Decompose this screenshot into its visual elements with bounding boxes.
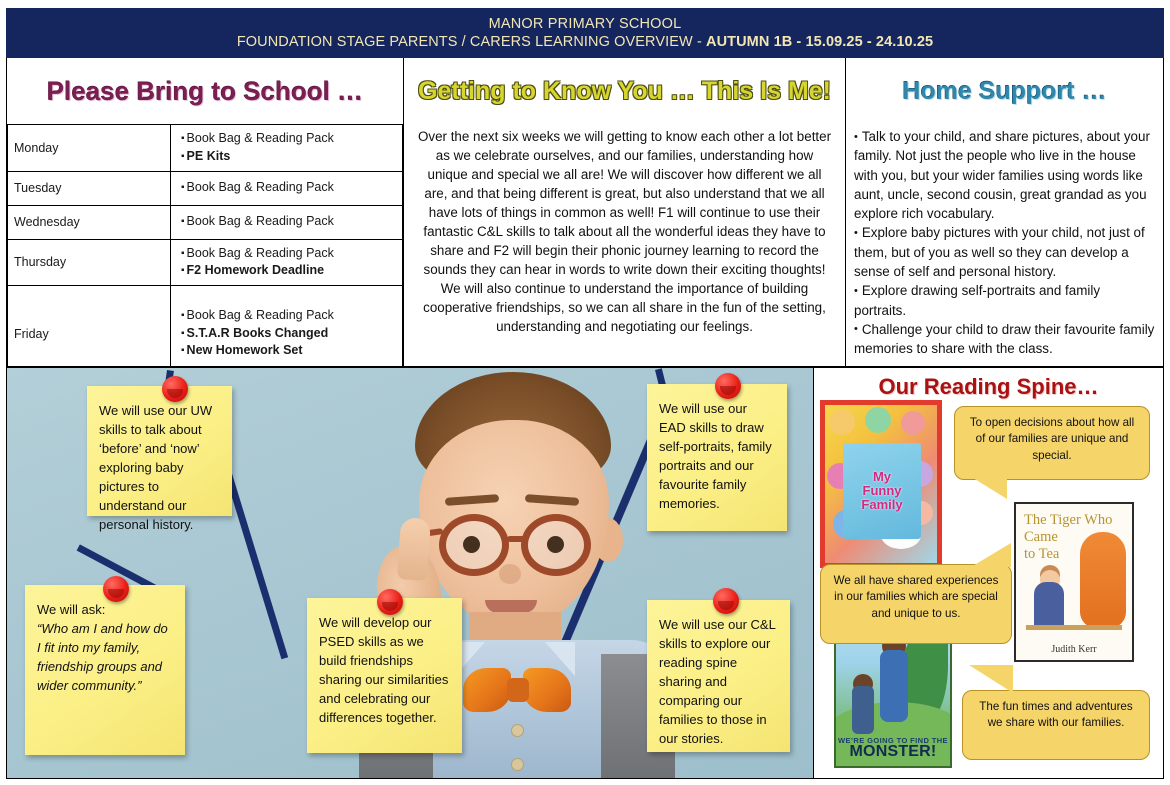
reading-spine-title: Our Reading Spine…: [814, 374, 1163, 400]
pointing-finger-shape: [397, 517, 431, 581]
connector-stroke-2: [223, 466, 288, 659]
schedule-body: MondayBook Bag & Reading PackPE KitsTues…: [8, 125, 403, 382]
weekly-schedule-table: MondayBook Bag & Reading PackPE KitsTues…: [7, 124, 403, 382]
sticky-note-ead-text: We will use our EAD skills to draw self-…: [659, 401, 772, 511]
schedule-items-cell: Book Bag & Reading PackPE Kits: [171, 125, 403, 172]
pushpin-icon-cl: [713, 588, 739, 614]
pushpin-icon-uw: [162, 376, 188, 402]
book2-tiger-illustration: [1080, 532, 1126, 628]
bring-to-school-title: Please Bring to School …: [47, 76, 363, 107]
pushpin-icon-ead: [715, 373, 741, 399]
book-cover-my-funny-family: MyFunnyFamily: [820, 400, 942, 568]
home-support-list: Talk to your child, and share pictures, …: [846, 124, 1163, 359]
sticky-note-cl-text: We will use our C&L skills to explore ou…: [659, 617, 775, 746]
schedule-item: New Homework Set: [181, 342, 396, 360]
learning-overview-page: MANOR PRIMARY SCHOOL FOUNDATION STAGE PA…: [0, 0, 1170, 785]
book1-title-line3: Family: [861, 497, 902, 512]
home-support-item: Explore drawing self-portraits and famil…: [854, 281, 1155, 320]
pushpin-icon-ask: [103, 576, 129, 602]
schedule-day-cell: Wednesday: [8, 205, 171, 239]
book3-title-big: MONSTER!: [836, 744, 950, 760]
home-support-column: Home Support … Talk to your child, and s…: [846, 58, 1163, 366]
getting-to-know-paragraph: Over the next six weeks we will getting …: [404, 124, 845, 336]
nose-shape: [499, 564, 521, 584]
book1-title-line1: My: [873, 469, 891, 484]
schedule-item: F2 Homework Deadline: [181, 262, 396, 280]
home-support-item: Challenge your child to draw their favou…: [854, 320, 1155, 359]
subtitle-prefix: FOUNDATION STAGE PARENTS / CARERS LEARNI…: [237, 34, 706, 50]
shirt-button-1: [511, 724, 524, 737]
table-row: ThursdayBook Bag & Reading PackF2 Homewo…: [8, 239, 403, 286]
schedule-day-cell: Monday: [8, 125, 171, 172]
book2-author: Judith Kerr: [1016, 644, 1132, 655]
home-support-title-wrap: Home Support …: [846, 58, 1163, 124]
book3-title: WE’RE GOING TO FIND THE MONSTER!: [836, 737, 950, 761]
book-cover-tiger-who-came-to-tea: The Tiger Who Came to Tea Judith Kerr: [1014, 502, 1134, 662]
schedule-items-cell: Book Bag & Reading Pack: [171, 171, 403, 205]
speech-bubble-3: The fun times and adventures we share wi…: [962, 690, 1150, 760]
book2-title-line2: Came: [1024, 529, 1058, 545]
book1-title-block: MyFunnyFamily: [843, 443, 921, 539]
overview-subtitle: FOUNDATION STAGE PARENTS / CARERS LEARNI…: [237, 33, 933, 51]
table-row: WednesdayBook Bag & Reading Pack: [8, 205, 403, 239]
school-name: MANOR PRIMARY SCHOOL: [489, 15, 682, 33]
subtitle-term: AUTUMN 1B - 15.09.25 - 24.10.25: [706, 34, 933, 50]
schedule-item: Book Bag & Reading Pack: [181, 307, 396, 325]
schedule-items-cell: Book Bag & Reading PackF2 Homework Deadl…: [171, 239, 403, 286]
sticky-note-uw-text: We will use our UW skills to talk about …: [99, 403, 212, 532]
speech-bubble-1: To open decisions about how all of our f…: [954, 406, 1150, 480]
book2-table-shape: [1026, 625, 1122, 630]
sticky-note-uw: We will use our UW skills to talk about …: [87, 386, 232, 516]
speech-bubble-2-text: We all have shared experiences in our fa…: [834, 574, 999, 620]
schedule-item: Book Bag & Reading Pack: [181, 130, 396, 148]
sticky-note-ead: We will use our EAD skills to draw self-…: [647, 384, 787, 531]
lower-section: We will use our UW skills to talk about …: [6, 367, 1164, 779]
schedule-items-cell: Book Bag & Reading Pack: [171, 205, 403, 239]
book1-character-2: [865, 407, 891, 433]
sticky-note-psed-text: We will develop our PSED skills as we bu…: [319, 615, 448, 725]
right-eye-shape: [547, 536, 564, 553]
book1-character-1: [829, 409, 855, 435]
speech-bubble-1-tail: [965, 473, 1007, 499]
glasses-bridge-shape: [507, 536, 525, 542]
left-eye-shape: [463, 536, 480, 553]
home-support-item: Talk to your child, and share pictures, …: [854, 127, 1155, 223]
book1-title-line2: Funny: [863, 483, 902, 498]
table-row: TuesdayBook Bag & Reading Pack: [8, 171, 403, 205]
schedule-item: Book Bag & Reading Pack: [181, 213, 396, 231]
bow-right-wing: [523, 668, 571, 712]
schedule-day-cell: Tuesday: [8, 171, 171, 205]
book1-title: MyFunnyFamily: [861, 470, 902, 513]
photo-board: We will use our UW skills to talk about …: [6, 367, 814, 779]
top-columns: Please Bring to School … MondayBook Bag …: [6, 58, 1164, 367]
bow-left-wing: [463, 668, 511, 712]
sticky-note-psed: We will develop our PSED skills as we bu…: [307, 598, 462, 753]
book3-child-body: [880, 650, 908, 722]
sticky-note-ask-lead: We will ask:: [37, 601, 173, 620]
book2-title-line3: to Tea: [1024, 546, 1059, 562]
book1-character-3: [901, 411, 925, 435]
speech-bubble-3-text: The fun times and adventures we share wi…: [979, 700, 1132, 729]
getting-to-know-title-wrap: Getting to Know You … This Is Me!: [404, 58, 845, 124]
book3-sibling-body: [852, 686, 874, 734]
speech-bubble-1-text: To open decisions about how all of our f…: [970, 416, 1134, 462]
getting-to-know-you-column: Getting to Know You … This Is Me! Over t…: [404, 58, 846, 366]
table-row: MondayBook Bag & Reading PackPE Kits: [8, 125, 403, 172]
speech-bubble-2-tail: [971, 543, 1011, 567]
reading-spine-panel: Our Reading Spine… MyFunnyFamily The Tig…: [814, 367, 1164, 779]
sticky-note-ask-quote: “Who am I and how do I fit into my famil…: [37, 620, 173, 696]
pushpin-icon-psed: [377, 589, 403, 615]
home-support-item: Explore baby pictures with your child, n…: [854, 223, 1155, 281]
bring-to-school-column: Please Bring to School … MondayBook Bag …: [7, 58, 404, 366]
bow-knot: [507, 678, 529, 702]
bring-to-school-title-wrap: Please Bring to School …: [7, 58, 403, 124]
book2-title-line1: The Tiger Who: [1024, 512, 1112, 528]
schedule-item: PE Kits: [181, 148, 396, 166]
bow-tie-shape: [463, 668, 571, 712]
speech-bubble-3-tail: [969, 665, 1013, 693]
schedule-day-cell: Thursday: [8, 239, 171, 286]
schedule-item: S.T.A.R Books Changed: [181, 325, 396, 343]
schedule-item: Book Bag & Reading Pack: [181, 179, 396, 197]
shirt-button-2: [511, 758, 524, 771]
speech-bubble-2: We all have shared experiences in our fa…: [820, 564, 1012, 644]
header-banner: MANOR PRIMARY SCHOOL FOUNDATION STAGE PA…: [6, 8, 1164, 58]
schedule-item: Book Bag & Reading Pack: [181, 245, 396, 263]
sticky-note-cl: We will use our C&L skills to explore ou…: [647, 600, 790, 752]
sticky-note-ask: We will ask: “Who am I and how do I fit …: [25, 585, 185, 755]
home-support-title: Home Support …: [902, 77, 1106, 106]
getting-to-know-title: Getting to Know You … This Is Me!: [418, 77, 831, 106]
book2-girl-body: [1034, 582, 1064, 630]
